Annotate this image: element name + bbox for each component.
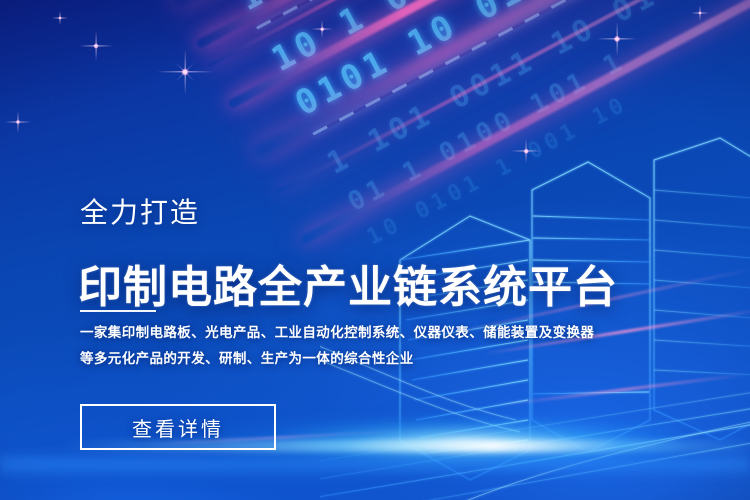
hero-description: 一家集印制电路板、光电产品、工业自动化控制系统、仪器仪表、储能装置及变换器 等多… [80,320,550,372]
hero-banner: 10 100 101 001 01 0 01 1001 01 101 1 1 0… [0,0,750,500]
hero-content: 全力打造 印制电路全产业链系统平台 一家集印制电路板、光电产品、工业自动化控制系… [80,0,720,500]
view-details-button[interactable]: 查看详情 [80,404,276,450]
hero-description-line: 等多元化产品的开发、研制、生产为一体的综合性企业 [80,346,550,372]
hero-description-line: 一家集印制电路板、光电产品、工业自动化控制系统、仪器仪表、储能装置及变换器 [80,320,550,346]
hero-divider [80,310,156,312]
hero-headline: 印制电路全产业链系统平台 [78,265,618,311]
hero-eyebrow: 全力打造 [80,199,200,227]
